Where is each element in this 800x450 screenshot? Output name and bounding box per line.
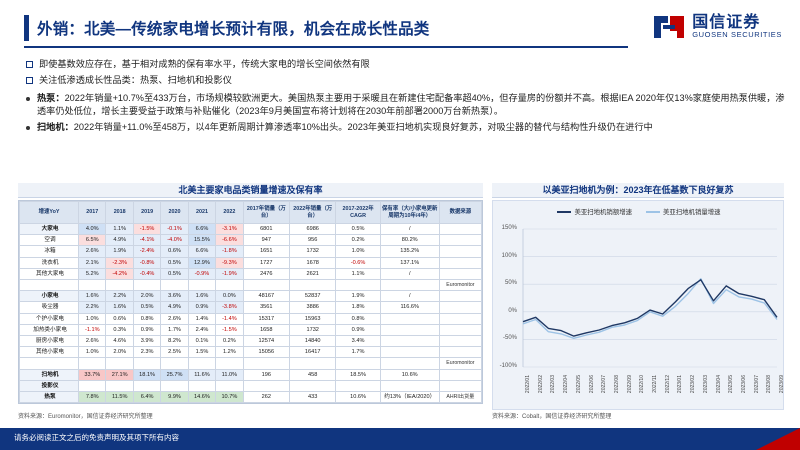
table-source: 资料来源：Euromonitor，国信证券经济研究所整理: [18, 411, 483, 420]
col-head-8: 2022年销量（万台）: [290, 202, 336, 224]
table-cell: 2.1%: [79, 257, 106, 268]
table-cell: [290, 280, 336, 291]
footer-text: 请务必阅读正文之后的免责声明及其项下所有内容: [14, 432, 179, 443]
table-cell: 1.7%: [161, 324, 188, 335]
chart-source: 资料来源：Cobalt，国信证券经济研究所整理: [492, 411, 784, 420]
table-cell: Euromonitor: [439, 358, 481, 369]
table-cell: -6.6%: [216, 235, 243, 246]
table-cell: 0.5%: [336, 224, 380, 235]
table-row: 厨房小家电2.6%4.6%3.9%8.2%0.1%0.2%12574148403…: [20, 336, 482, 347]
table-cell: 6.4%: [133, 392, 160, 403]
x-tick-label: 2022/03: [550, 375, 556, 393]
table-cell: [216, 380, 243, 391]
table-cell: [161, 280, 188, 291]
table-cell: [243, 380, 289, 391]
title-text: 外销：北美—传统家电增长预计有限，机会在成长性品类: [37, 17, 430, 39]
table-row: 大家电4.0%1.1%-1.5%-0.1%6.6%-3.1%680169860.…: [20, 224, 482, 235]
col-head-10: 保有率（大/小家电更新周期为10年/4年）: [380, 202, 439, 224]
x-tick-label: 2022/08: [614, 375, 620, 393]
table-cell: 6986: [290, 224, 336, 235]
table-cell: [439, 268, 481, 279]
table-cell: 27.1%: [106, 369, 133, 380]
logo-name-cn: 国信证券: [692, 15, 782, 32]
x-tick-label: 2022/06: [589, 375, 595, 393]
table-body: 大家电4.0%1.1%-1.5%-0.1%6.6%-3.1%680169860.…: [20, 224, 482, 403]
table-cell: [106, 280, 133, 291]
table-cell: 7.8%: [79, 392, 106, 403]
table-cell: 1.0%: [79, 313, 106, 324]
table-cell: 0.0%: [216, 291, 243, 302]
title-underline: [24, 46, 628, 48]
table-cell: 约13%（IEA/2020）: [380, 392, 439, 403]
table-cell: 2.5%: [161, 347, 188, 358]
table-row: 其他大家电5.2%-4.2%-0.4%0.5%-0.9%-1.9%2476262…: [20, 268, 482, 279]
table-cell: 0.6%: [106, 313, 133, 324]
x-tick-label: 2022/02: [538, 375, 544, 393]
table-cell: [188, 280, 215, 291]
x-tick-label: 2023/09: [779, 375, 785, 393]
table-row: 洗衣机2.1%-2.3%-0.8%0.5%12.9%-9.3%17271678-…: [20, 257, 482, 268]
table-cell: 0.9%: [188, 302, 215, 313]
table-cell: [380, 380, 439, 391]
bullet-paragraph: 扫地机：2022年销量+11.0%至458万，以4年更新周期计算渗透率10%出头…: [37, 121, 785, 134]
table-cell: 135.2%: [380, 246, 439, 257]
bullet-paragraph: 热泵：2022年销量+10.7%至433万台，市场规模较欧洲更大。美国热泵主要用…: [37, 92, 785, 119]
row-label: 大家电: [20, 224, 79, 235]
table-cell: [133, 380, 160, 391]
table-cell: [380, 280, 439, 291]
table-cell: -3.8%: [216, 302, 243, 313]
table-cell: [133, 358, 160, 369]
legend-label: 美亚扫地机销额增速: [574, 207, 632, 216]
col-head-6: 2022: [216, 202, 243, 224]
chart-panel: 美亚扫地机销额增速 美亚扫地机销量增速 150%100%50%0%-50%-10…: [492, 200, 784, 410]
table-cell: [243, 280, 289, 291]
appliance-table: 增速YoY 2017 2018 2019 2020 2021 2022 2017…: [18, 200, 483, 404]
table-row: 扫地机33.7%27.1%18.1%25.7%11.6%11.0%1964581…: [20, 369, 482, 380]
table-cell: 0.1%: [188, 336, 215, 347]
table-cell: 6.6%: [188, 246, 215, 257]
table-row: 其他小家电1.0%2.0%2.3%2.5%1.5%1.2%15056164171…: [20, 347, 482, 358]
table-row: 空调6.5%4.9%-4.1%-4.0%15.5%-6.6%9479560.2%…: [20, 235, 482, 246]
table-cell: [439, 302, 481, 313]
table-cell: -2.4%: [133, 246, 160, 257]
legend-item-0: 美亚扫地机销额增速: [557, 207, 632, 216]
table-cell: 1678: [290, 257, 336, 268]
title-accent-bar: [24, 15, 29, 41]
table-cell: 4.6%: [106, 336, 133, 347]
x-tick-label: 2022/10: [639, 375, 645, 393]
table-cell: [290, 358, 336, 369]
table-cell: 1727: [243, 257, 289, 268]
table-cell: [439, 313, 481, 324]
row-label: [20, 358, 79, 369]
table-cell: 0.9%: [336, 324, 380, 335]
table-cell: [79, 358, 106, 369]
table-head: 增速YoY 2017 2018 2019 2020 2021 2022 2017…: [20, 202, 482, 224]
dot-bullet-icon: [26, 97, 30, 101]
table-cell: /: [380, 268, 439, 279]
logo-mark-icon: [652, 12, 686, 42]
slide: 外销：北美—传统家电增长预计有限，机会在成长性品类 国信证券 GUOSEN SE…: [0, 0, 800, 450]
table-cell: 2.2%: [79, 302, 106, 313]
table-cell: [79, 280, 106, 291]
chart-x-axis: 2022/012022/022022/032022/042022/052022/…: [521, 373, 779, 411]
table-cell: 2.6%: [79, 246, 106, 257]
x-tick-label: 2022/01: [525, 375, 531, 393]
row-label: 加热类小家电: [20, 324, 79, 335]
row-label: 吸尘器: [20, 302, 79, 313]
slide-header: 外销：北美—传统家电增长预计有限，机会在成长性品类 国信证券 GUOSEN SE…: [0, 0, 800, 58]
table-cell: 1732: [290, 324, 336, 335]
table-cell: 0.2%: [336, 235, 380, 246]
table-cell: [106, 358, 133, 369]
page-title: 外销：北美—传统家电增长预计有限，机会在成长性品类: [24, 12, 604, 44]
table-cell: [216, 280, 243, 291]
table-cell: 4.9%: [106, 235, 133, 246]
table-cell: [161, 358, 188, 369]
table-cell: 1.8%: [336, 302, 380, 313]
table-cell: [161, 380, 188, 391]
table-cell: [380, 358, 439, 369]
col-head-9: 2017-2022年CAGR: [336, 202, 380, 224]
x-tick-label: 2023/01: [677, 375, 683, 393]
table-cell: -2.3%: [106, 257, 133, 268]
x-tick-label: 2023/04: [716, 375, 722, 393]
table-row: 加热类小家电-1.1%0.3%0.9%1.7%2.4%-1.5%16581732…: [20, 324, 482, 335]
table-cell: 3.4%: [336, 336, 380, 347]
table-cell: [243, 358, 289, 369]
table-cell: -1.8%: [216, 246, 243, 257]
table-cell: 15317: [243, 313, 289, 324]
table-cell: 2.2%: [106, 291, 133, 302]
table-cell: 18.5%: [336, 369, 380, 380]
table-cell: [336, 380, 380, 391]
table-cell: 48167: [243, 291, 289, 302]
bullet-text: 关注低渗透成长性品类：热泵、扫地机和投影仪: [39, 74, 232, 87]
table-cell: 1.5%: [188, 347, 215, 358]
col-head-0: 增速YoY: [20, 202, 79, 224]
table-cell: 10.7%: [216, 392, 243, 403]
table: 增速YoY 2017 2018 2019 2020 2021 2022 2017…: [19, 201, 482, 403]
table-cell: 10.6%: [336, 392, 380, 403]
row-label: 个护小家电: [20, 313, 79, 324]
table-cell: 0.5%: [161, 268, 188, 279]
table-cell: 2476: [243, 268, 289, 279]
legend-label: 美亚扫地机销量增速: [663, 207, 721, 216]
table-cell: 1651: [243, 246, 289, 257]
table-cell: 0.6%: [161, 246, 188, 257]
table-row: 冰箱2.6%1.9%-2.4%0.6%6.6%-1.8%165117321.0%…: [20, 246, 482, 257]
table-cell: [380, 347, 439, 358]
table-cell: 11.6%: [188, 369, 215, 380]
table-cell: [79, 380, 106, 391]
row-label: 空调: [20, 235, 79, 246]
table-cell: 1.6%: [106, 302, 133, 313]
table-cell: /: [380, 291, 439, 302]
table-row: 吸尘器2.2%1.6%0.5%4.9%0.9%-3.8%356138861.8%…: [20, 302, 482, 313]
table-cell: 2.6%: [79, 336, 106, 347]
x-tick-label: 2023/03: [703, 375, 709, 393]
table-row: 热泵7.8%11.5%6.4%9.9%14.6%10.7%26243310.6%…: [20, 392, 482, 403]
table-cell: [290, 380, 336, 391]
table-cell: [439, 380, 481, 391]
table-cell: [439, 235, 481, 246]
table-cell: -3.1%: [216, 224, 243, 235]
table-cell: [439, 347, 481, 358]
table-cell: 0.8%: [133, 313, 160, 324]
table-cell: 433: [290, 392, 336, 403]
table-caption: 北美主要家电品类销量增速及保有率: [18, 183, 483, 198]
table-cell: 137.1%: [380, 257, 439, 268]
bullet-item: 热泵：2022年销量+10.7%至433万台，市场规模较欧洲更大。美国热泵主要用…: [26, 92, 786, 119]
table-cell: 8.2%: [161, 336, 188, 347]
table-row: 小家电1.6%2.2%2.0%3.6%1.6%0.0%48167528371.9…: [20, 291, 482, 302]
bullet-item: 关注低渗透成长性品类：热泵、扫地机和投影仪: [26, 74, 786, 87]
table-cell: 10.6%: [380, 369, 439, 380]
table-cell: [106, 380, 133, 391]
table-cell: 116.6%: [380, 302, 439, 313]
table-cell: 0.2%: [216, 336, 243, 347]
dot-bullet-icon: [26, 126, 30, 130]
x-tick-label: 2022/07: [601, 375, 607, 393]
x-tick-label: 2022/04: [563, 375, 569, 393]
table-cell: 1.2%: [216, 347, 243, 358]
table-cell: 2.4%: [188, 324, 215, 335]
x-tick-label: 2022/09: [627, 375, 633, 393]
x-tick-label: 2022/12: [665, 375, 671, 393]
table-cell: 25.7%: [161, 369, 188, 380]
table-cell: 1732: [290, 246, 336, 257]
table-cell: 1.9%: [336, 291, 380, 302]
table-row: 投影仪: [20, 380, 482, 391]
x-tick-label: 2023/08: [766, 375, 772, 393]
table-cell: -0.1%: [161, 224, 188, 235]
table-cell: 11.0%: [216, 369, 243, 380]
table-cell: -1.1%: [79, 324, 106, 335]
table-cell: 0.9%: [133, 324, 160, 335]
row-label: 投影仪: [20, 380, 79, 391]
table-cell: 12574: [243, 336, 289, 347]
table-cell: 0.8%: [336, 313, 380, 324]
table-cell: [439, 257, 481, 268]
bullet-label: 扫地机：: [37, 122, 74, 132]
table-cell: 11.5%: [106, 392, 133, 403]
table-cell: 6801: [243, 224, 289, 235]
table-cell: [188, 358, 215, 369]
table-cell: 4.9%: [161, 302, 188, 313]
table-cell: 1.6%: [188, 291, 215, 302]
table-cell: -1.9%: [216, 268, 243, 279]
row-label: 扫地机: [20, 369, 79, 380]
table-cell: 4.0%: [79, 224, 106, 235]
table-cell: 1.0%: [336, 246, 380, 257]
table-cell: 18.1%: [133, 369, 160, 380]
row-label: 其他大家电: [20, 268, 79, 279]
table-row: Euromonitor: [20, 280, 482, 291]
bullet-item: 扫地机：2022年销量+11.0%至458万，以4年更新周期计算渗透率10%出头…: [26, 121, 786, 134]
footer-accent-shape: [756, 428, 800, 450]
table-cell: 0.5%: [133, 302, 160, 313]
table-cell: [380, 313, 439, 324]
col-head-7: 2017年销量（万台）: [243, 202, 289, 224]
bullet-body: 2022年销量+11.0%至458万，以4年更新周期计算渗透率10%出头。202…: [74, 122, 653, 132]
col-head-5: 2021: [188, 202, 215, 224]
table-row: 个护小家电1.0%0.6%0.8%2.6%1.4%-1.4%1531715963…: [20, 313, 482, 324]
table-cell: -0.6%: [336, 257, 380, 268]
table-cell: 1658: [243, 324, 289, 335]
table-row: Euromonitor: [20, 358, 482, 369]
table-cell: 196: [243, 369, 289, 380]
table-cell: Euromonitor: [439, 280, 481, 291]
row-label: 洗衣机: [20, 257, 79, 268]
table-cell: 2621: [290, 268, 336, 279]
table-cell: 2.3%: [133, 347, 160, 358]
x-tick-label: 2023/05: [728, 375, 734, 393]
table-cell: 12.9%: [188, 257, 215, 268]
table-cell: 6.5%: [79, 235, 106, 246]
table-cell: [380, 324, 439, 335]
table-cell: [439, 336, 481, 347]
row-label: 冰箱: [20, 246, 79, 257]
table-cell: 6.6%: [188, 224, 215, 235]
table-cell: 5.2%: [79, 268, 106, 279]
table-cell: 3561: [243, 302, 289, 313]
table-cell: 1.0%: [79, 347, 106, 358]
bullet-body: 2022年销量+10.7%至433万台，市场规模较欧洲更大。美国热泵主要用于采暖…: [37, 93, 785, 116]
logo-name-en: GUOSEN SECURITIES: [692, 31, 782, 39]
bullet-list: 即使基数效应存在，基于相对成熟的保有率水平，传统大家电的增长空间依然有限 关注低…: [26, 58, 786, 138]
table-cell: 0.3%: [106, 324, 133, 335]
col-head-1: 2017: [79, 202, 106, 224]
table-cell: 3.6%: [161, 291, 188, 302]
table-cell: 15963: [290, 313, 336, 324]
table-cell: 1.6%: [79, 291, 106, 302]
table-cell: [439, 324, 481, 335]
slide-footer: 请务必阅读正文之后的免责声明及其项下所有内容: [0, 428, 800, 450]
table-cell: 1.1%: [106, 224, 133, 235]
table-cell: 15056: [243, 347, 289, 358]
table-cell: 458: [290, 369, 336, 380]
x-tick-label: 2023/02: [690, 375, 696, 393]
chart-svg: [493, 223, 785, 373]
table-cell: 947: [243, 235, 289, 246]
table-cell: 956: [290, 235, 336, 246]
chart-plot: [493, 223, 785, 373]
table-cell: 1.4%: [188, 313, 215, 324]
chart-legend: 美亚扫地机销额增速 美亚扫地机销量增速: [493, 207, 785, 216]
table-cell: -0.9%: [188, 268, 215, 279]
bullet-text: 即使基数效应存在，基于相对成熟的保有率水平，传统大家电的增长空间依然有限: [39, 58, 370, 71]
table-cell: [380, 336, 439, 347]
table-cell: [336, 358, 380, 369]
row-label: 热泵: [20, 392, 79, 403]
legend-swatch-icon: [646, 211, 660, 213]
table-cell: 14.6%: [188, 392, 215, 403]
x-tick-label: 2022/05: [576, 375, 582, 393]
col-head-3: 2019: [133, 202, 160, 224]
table-cell: [439, 246, 481, 257]
table-cell: 9.9%: [161, 392, 188, 403]
bullet-item: 即使基数效应存在，基于相对成熟的保有率水平，传统大家电的增长空间依然有限: [26, 58, 786, 71]
col-head-2: 2018: [106, 202, 133, 224]
table-cell: -4.2%: [106, 268, 133, 279]
table-cell: -0.4%: [133, 268, 160, 279]
table-cell: 262: [243, 392, 289, 403]
bullet-label: 热泵：: [37, 93, 65, 103]
legend-swatch-icon: [557, 211, 571, 213]
table-cell: 1.7%: [336, 347, 380, 358]
x-tick-label: 2023/06: [741, 375, 747, 393]
col-head-4: 2020: [161, 202, 188, 224]
table-cell: /: [380, 224, 439, 235]
table-cell: 1.9%: [106, 246, 133, 257]
table-cell: 3.9%: [133, 336, 160, 347]
col-head-11: 数据来源: [439, 202, 481, 224]
table-cell: 1.1%: [336, 268, 380, 279]
x-tick-label: 2023/07: [754, 375, 760, 393]
table-header-row: 增速YoY 2017 2018 2019 2020 2021 2022 2017…: [20, 202, 482, 224]
table-cell: 3886: [290, 302, 336, 313]
table-cell: [188, 380, 215, 391]
table-cell: -1.4%: [216, 313, 243, 324]
table-cell: -4.0%: [161, 235, 188, 246]
table-cell: -9.3%: [216, 257, 243, 268]
row-label: 小家电: [20, 291, 79, 302]
table-cell: [439, 291, 481, 302]
table-cell: 2.0%: [133, 291, 160, 302]
table-cell: 0.5%: [161, 257, 188, 268]
table-cell: 16417: [290, 347, 336, 358]
table-cell: 2.0%: [106, 347, 133, 358]
x-tick-label: 2022/11: [652, 375, 658, 393]
table-cell: 52837: [290, 291, 336, 302]
table-cell: [439, 224, 481, 235]
table-cell: [439, 369, 481, 380]
row-label: 其他小家电: [20, 347, 79, 358]
row-label: [20, 280, 79, 291]
table-cell: [133, 280, 160, 291]
square-bullet-icon: [26, 61, 33, 68]
chart-title: 以美亚扫地机为例：2023年在低基数下良好复苏: [492, 183, 784, 198]
table-cell: AHRI出货量: [439, 392, 481, 403]
table-cell: [336, 280, 380, 291]
table-cell: 80.2%: [380, 235, 439, 246]
row-label: 厨房小家电: [20, 336, 79, 347]
legend-item-1: 美亚扫地机销量增速: [646, 207, 721, 216]
table-cell: [216, 358, 243, 369]
logo-text: 国信证券 GUOSEN SECURITIES: [692, 15, 782, 40]
table-cell: -1.5%: [216, 324, 243, 335]
brand-logo: 国信证券 GUOSEN SECURITIES: [652, 12, 782, 42]
table-cell: -1.5%: [133, 224, 160, 235]
table-cell: 2.6%: [161, 313, 188, 324]
table-cell: 14840: [290, 336, 336, 347]
table-cell: 33.7%: [79, 369, 106, 380]
table-cell: -0.8%: [133, 257, 160, 268]
table-cell: -4.1%: [133, 235, 160, 246]
table-cell: 15.5%: [188, 235, 215, 246]
square-bullet-icon: [26, 77, 33, 84]
